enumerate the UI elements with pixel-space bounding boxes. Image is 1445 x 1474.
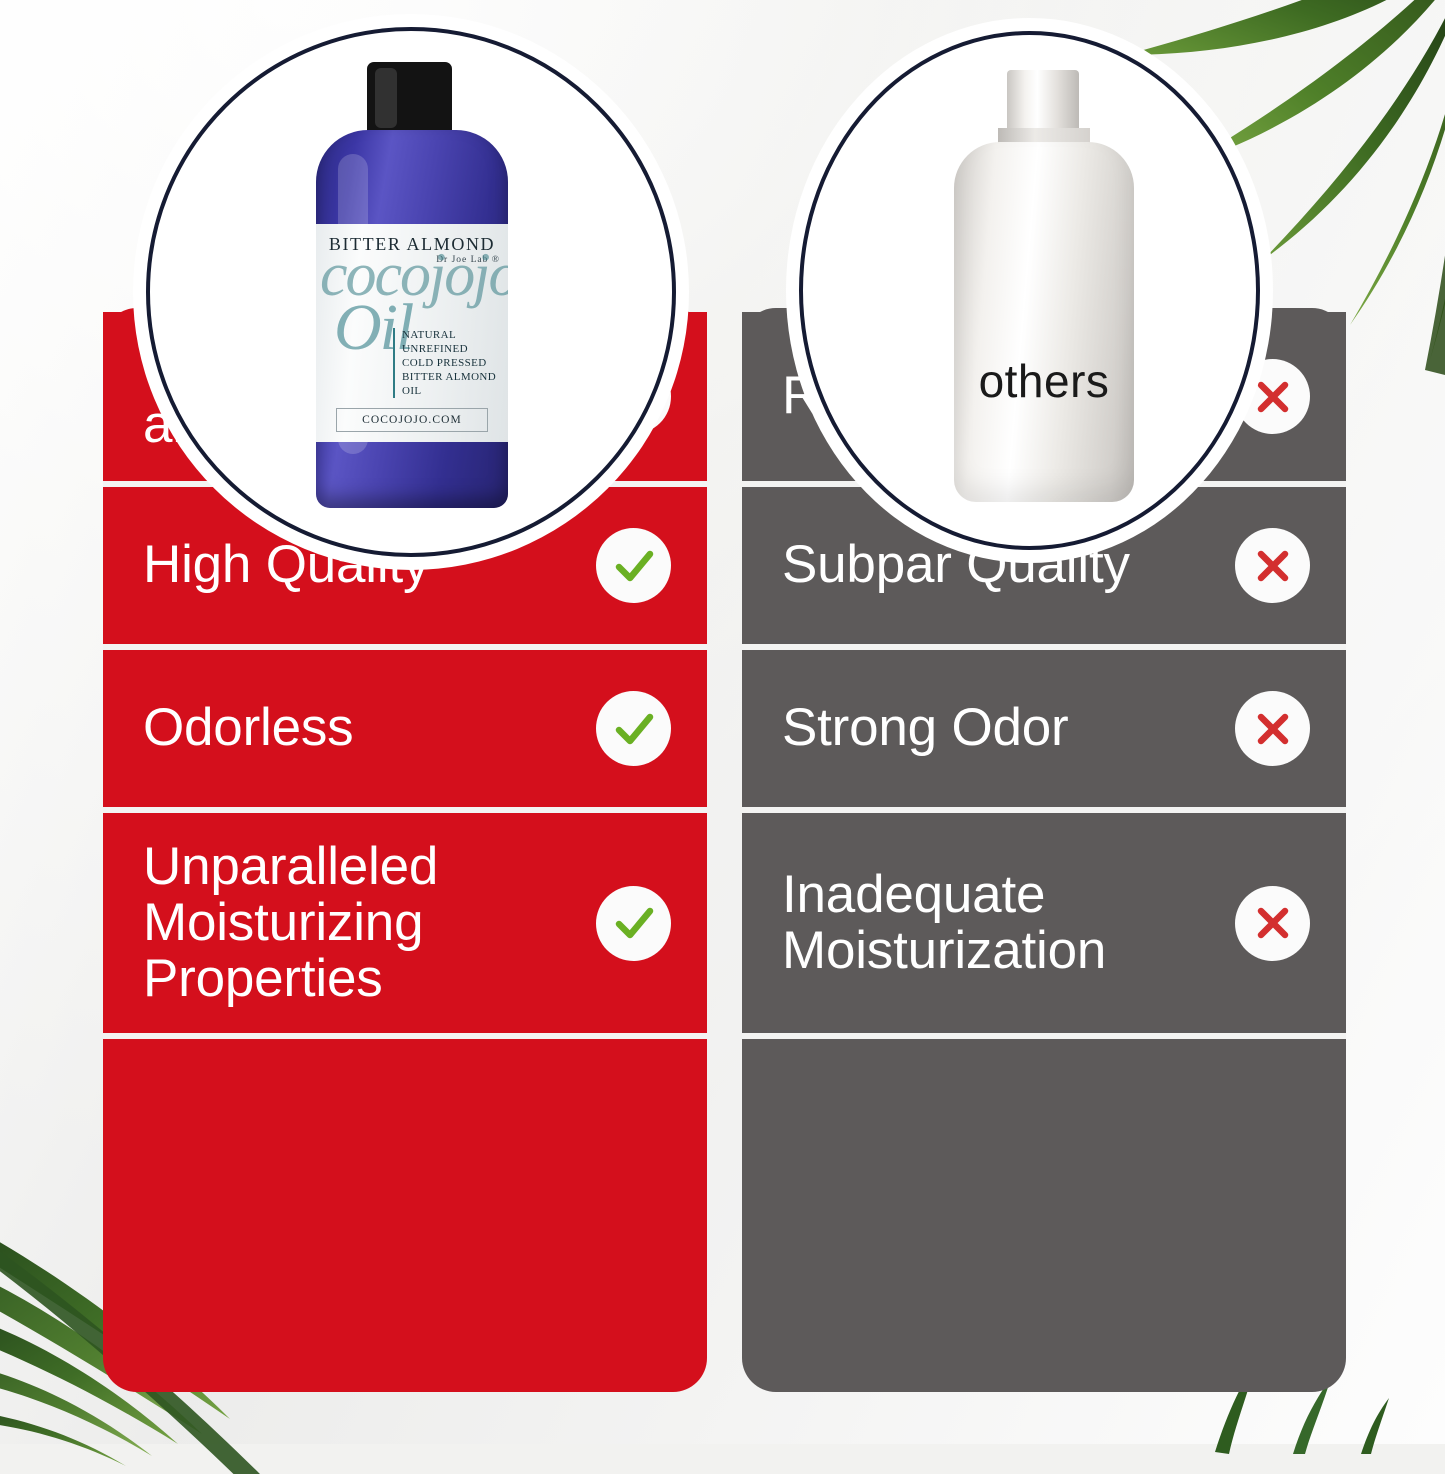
cocojojo-bottle-image: BITTER ALMOND Dr Joe Lab ® cocojojo Oil … (300, 62, 520, 512)
check-icon (596, 691, 671, 766)
list-item[interactable]: Strong Odor (742, 650, 1346, 813)
feature-label: Strong Odor (782, 700, 1221, 756)
others-bottle-image: others (940, 70, 1140, 510)
bottle-cap (1007, 70, 1079, 132)
feature-label: Unparalleled Moisturizing Properties (143, 839, 582, 1008)
cross-icon (1235, 886, 1310, 961)
bottle-body: others (954, 142, 1134, 502)
cross-icon (1235, 691, 1310, 766)
feature-label: Odorless (143, 700, 582, 756)
label-details: NATURAL UNREFINED COLD PRESSED BITTER AL… (393, 328, 502, 398)
feature-label: Inadequate Moisturization (782, 867, 1221, 979)
others-bottle-label: others (954, 354, 1134, 408)
bottle-label: BITTER ALMOND Dr Joe Lab ® cocojojo Oil … (316, 224, 508, 442)
bottle-cap (367, 62, 452, 140)
check-icon (596, 528, 671, 603)
check-icon (596, 886, 671, 961)
list-item[interactable]: Odorless (103, 650, 707, 813)
list-item[interactable]: Unparalleled Moisturizing Properties (103, 813, 707, 1039)
cross-icon (1235, 528, 1310, 603)
list-item[interactable]: Inadequate Moisturization (742, 813, 1346, 1039)
label-url: COCOJOJO.COM (336, 408, 488, 432)
